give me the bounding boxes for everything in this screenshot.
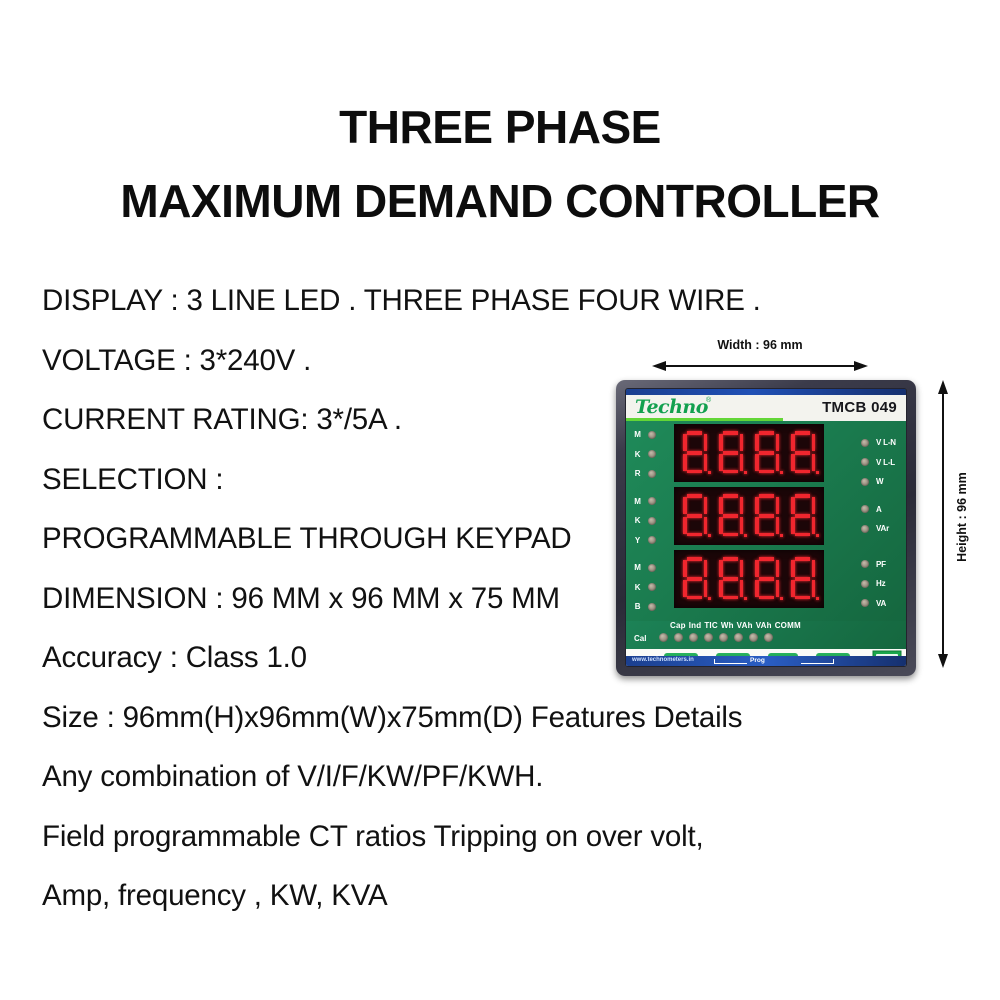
spec-line-combination: Any combination of V/I/F/KW/PF/KWH.	[42, 762, 942, 792]
indicator-k-y: K	[630, 511, 676, 531]
indicator-k-r: K	[630, 445, 676, 465]
display-row-3	[674, 550, 824, 608]
indicator-gap	[630, 550, 676, 558]
width-dimension-arrow-icon	[652, 360, 868, 372]
indicator-gap	[858, 547, 904, 555]
indicator-var: VAr	[858, 519, 904, 539]
status-indicator-strip: CapIndTICWhVAhVAhCOMM Cal	[626, 621, 906, 649]
indicator-led-icon	[648, 431, 656, 439]
indicator-led-icon	[648, 497, 656, 505]
spec-line-display: DISPLAY : 3 LINE LED . THREE PHASE FOUR …	[42, 286, 942, 316]
seven-segment-digit	[718, 431, 744, 475]
indicator-va: VA	[858, 594, 904, 614]
status-label-vah1: VAh	[737, 621, 753, 630]
indicator-y: Y	[630, 531, 676, 551]
spec-line-size: Size : 96mm(H)x96mm(W)x75mm(D) Features …	[42, 703, 942, 733]
status-label-tic: TIC	[704, 621, 718, 630]
height-dimension-label: Height : 96 mm	[955, 387, 969, 647]
indicator-label: M	[630, 497, 645, 506]
indicator-r: R	[630, 464, 676, 484]
indicator-v-ll: V L-L	[858, 453, 904, 473]
height-dimension-arrow-icon	[936, 380, 950, 668]
indicator-led-icon	[648, 536, 656, 544]
indicator-label: K	[630, 516, 645, 525]
seven-segment-digit	[718, 557, 744, 601]
seven-segment-digit	[682, 431, 708, 475]
indicator-label: M	[630, 430, 645, 439]
seven-segment-digit	[754, 431, 780, 475]
indicator-label: Hz	[876, 579, 885, 588]
indicator-led-icon	[861, 580, 869, 588]
indicator-led-icon	[648, 450, 656, 458]
indicator-label: K	[630, 583, 645, 592]
status-led-icon	[659, 633, 668, 642]
status-led-icon	[719, 633, 728, 642]
seven-segment-digit	[682, 494, 708, 538]
width-dimension: Width : 96 mm	[652, 338, 868, 376]
left-indicator-column: M K R M K Y M K B	[630, 425, 676, 617]
indicator-label: V L-L	[876, 458, 895, 467]
seven-segment-digit	[754, 557, 780, 601]
status-led-icon	[734, 633, 743, 642]
indicator-label: M	[630, 563, 645, 572]
seven-segment-digit	[790, 557, 816, 601]
status-led-icon	[704, 633, 713, 642]
seven-segment-digit	[754, 494, 780, 538]
display-row-1	[674, 424, 824, 482]
indicator-label: PF	[876, 560, 886, 569]
height-dimension: Height : 96 mm	[932, 380, 978, 668]
seven-segment-digit	[682, 557, 708, 601]
device-face: M K R M K Y M K B	[626, 421, 906, 621]
status-label-row: CapIndTICWhVAhVAhCOMM	[670, 621, 804, 630]
model-code: TMCB 049	[822, 399, 897, 416]
status-label-vah2: VAh	[756, 621, 772, 630]
status-led-icon	[674, 633, 683, 642]
indicator-led-icon	[861, 439, 869, 447]
right-indicator-column: V L-N V L-L W A VAr PF Hz VA	[858, 425, 904, 613]
indicator-k-b: K	[630, 578, 676, 598]
indicator-a: A	[858, 500, 904, 520]
indicator-gap	[630, 484, 676, 492]
indicator-label: VAr	[876, 524, 889, 533]
indicator-m-b: M	[630, 558, 676, 578]
prog-label: Prog	[750, 657, 765, 664]
indicator-gap	[858, 539, 904, 547]
seven-segment-digit	[790, 494, 816, 538]
status-led-icon	[764, 633, 773, 642]
spec-line-amp-frequency: Amp, frequency , KW, KVA	[42, 881, 942, 911]
indicator-led-icon	[648, 564, 656, 572]
indicator-led-icon	[861, 505, 869, 513]
indicator-led-icon	[861, 458, 869, 466]
indicator-w: W	[858, 472, 904, 492]
cal-label: Cal	[634, 634, 646, 643]
indicator-hz: Hz	[858, 574, 904, 594]
status-label-ind: Ind	[689, 621, 702, 630]
indicator-label: A	[876, 505, 882, 514]
indicator-label: VA	[876, 599, 886, 608]
indicator-label: R	[630, 469, 645, 478]
indicator-label: K	[630, 450, 645, 459]
status-label-comm: COMM	[775, 621, 801, 630]
title-line-2: MAXIMUM DEMAND CONTROLLER	[0, 178, 1000, 224]
indicator-led-icon	[648, 603, 656, 611]
indicator-label: Y	[630, 536, 645, 545]
indicator-pf: PF	[858, 555, 904, 575]
indicator-label: W	[876, 477, 883, 486]
indicator-led-icon	[648, 517, 656, 525]
indicator-led-icon	[648, 470, 656, 478]
prog-bracket-icon	[714, 659, 834, 664]
seven-segment-digit	[718, 494, 744, 538]
width-dimension-label: Width : 96 mm	[652, 338, 868, 352]
status-led-icon	[749, 633, 758, 642]
indicator-led-icon	[861, 525, 869, 533]
led-display-group	[674, 424, 824, 613]
website-url: www.technometers.in	[632, 657, 694, 663]
product-figure: Width : 96 mm Height : 96 mm Techno ® TM…	[616, 338, 988, 690]
spec-line-ct-ratios: Field programmable CT ratios Tripping on…	[42, 822, 942, 852]
page-title: THREE PHASE MAXIMUM DEMAND CONTROLLER	[0, 104, 1000, 224]
indicator-led-icon	[861, 599, 869, 607]
status-led-icon	[689, 633, 698, 642]
indicator-led-icon	[861, 560, 869, 568]
status-label-cap: Cap	[670, 621, 686, 630]
indicator-gap	[858, 492, 904, 500]
indicator-gap	[858, 425, 904, 433]
indicator-m-y: M	[630, 492, 676, 512]
indicator-label: V L-N	[876, 438, 896, 447]
controller-device: Techno ® TMCB 049 M K R M K Y M	[616, 380, 916, 676]
title-line-1: THREE PHASE	[0, 104, 1000, 150]
indicator-led-icon	[861, 478, 869, 486]
device-header: Techno ® TMCB 049	[626, 395, 906, 421]
registered-mark-icon: ®	[706, 397, 711, 404]
seven-segment-digit	[790, 431, 816, 475]
indicator-label: B	[630, 602, 645, 611]
indicator-m-r: M	[630, 425, 676, 445]
indicator-b: B	[630, 597, 676, 617]
display-row-2	[674, 487, 824, 545]
indicator-led-icon	[648, 583, 656, 591]
bottom-strip: www.technometers.in Prog	[626, 656, 906, 666]
brand-name: Techno	[635, 396, 708, 418]
status-led-row	[656, 633, 776, 642]
indicator-v-ln: V L-N	[858, 433, 904, 453]
status-label-wh: Wh	[721, 621, 734, 630]
